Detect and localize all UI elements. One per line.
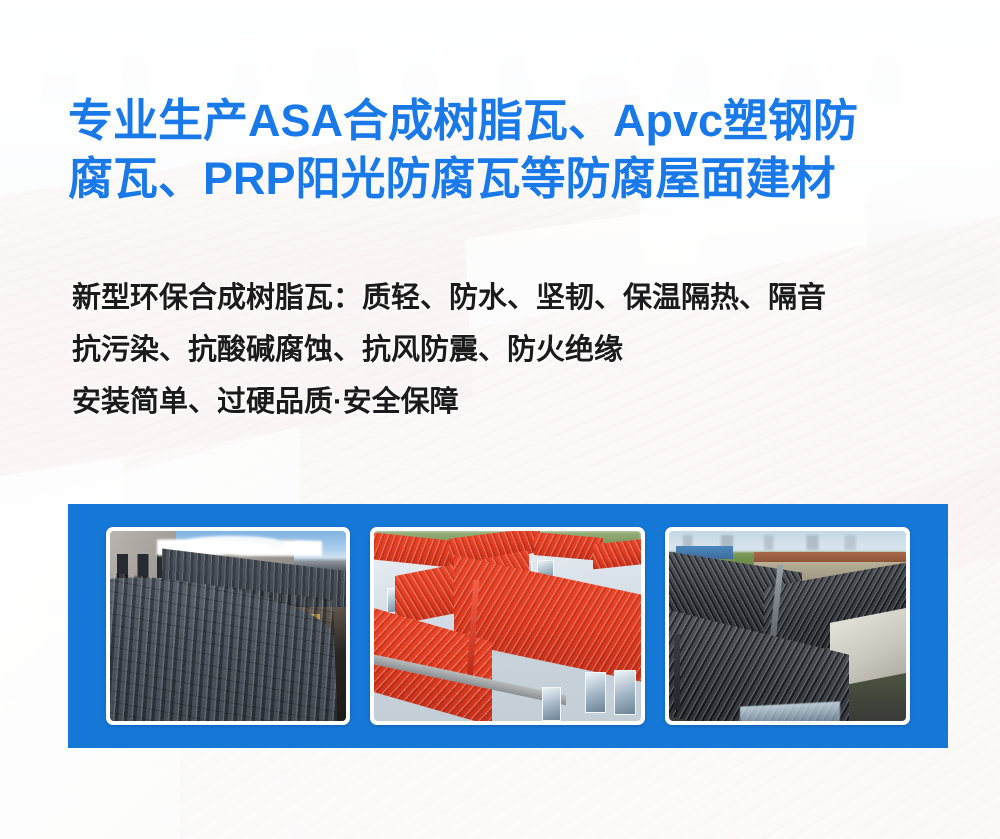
photo2-window [542, 687, 561, 721]
photo2-window [585, 672, 606, 714]
subheadline-line-3: 安装简单、过硬品质·安全保障 [72, 376, 952, 428]
subheadline-line-2: 抗污染、抗酸碱腐蚀、抗风防震、防火绝缘 [72, 324, 952, 376]
headline: 专业生产ASA合成树脂瓦、Apvc塑钢防 腐瓦、PRP阳光防腐瓦等防腐屋面建材 [68, 92, 944, 208]
headline-line-2: 腐瓦、PRP阳光防腐瓦等防腐屋面建材 [68, 150, 944, 208]
photo-frame-2[interactable] [370, 527, 645, 725]
photo-dark-grey-tile-roof [110, 531, 346, 721]
product-promo-banner: 专业生产ASA合成树脂瓦、Apvc塑钢防 腐瓦、PRP阳光防腐瓦等防腐屋面建材 … [0, 0, 1000, 839]
photo-frame-1[interactable] [106, 527, 350, 725]
headline-line-1: 专业生产ASA合成树脂瓦、Apvc塑钢防 [68, 92, 944, 150]
subheadline: 新型环保合成树脂瓦：质轻、防水、坚韧、保温隔热、隔音 抗污染、抗酸碱腐蚀、抗风防… [72, 272, 952, 428]
gallery-panel [68, 504, 948, 748]
photo3-support-post [674, 634, 680, 710]
subheadline-line-1: 新型环保合成树脂瓦：质轻、防水、坚韧、保温隔热、隔音 [72, 272, 952, 324]
photo-frame-3[interactable] [665, 527, 910, 725]
photo-black-tile-roof [669, 531, 906, 721]
banner-content: 专业生产ASA合成树脂瓦、Apvc塑钢防 腐瓦、PRP阳光防腐瓦等防腐屋面建材 … [0, 0, 1000, 839]
photo2-window [614, 670, 635, 716]
photo-red-tile-roofs [374, 531, 641, 721]
